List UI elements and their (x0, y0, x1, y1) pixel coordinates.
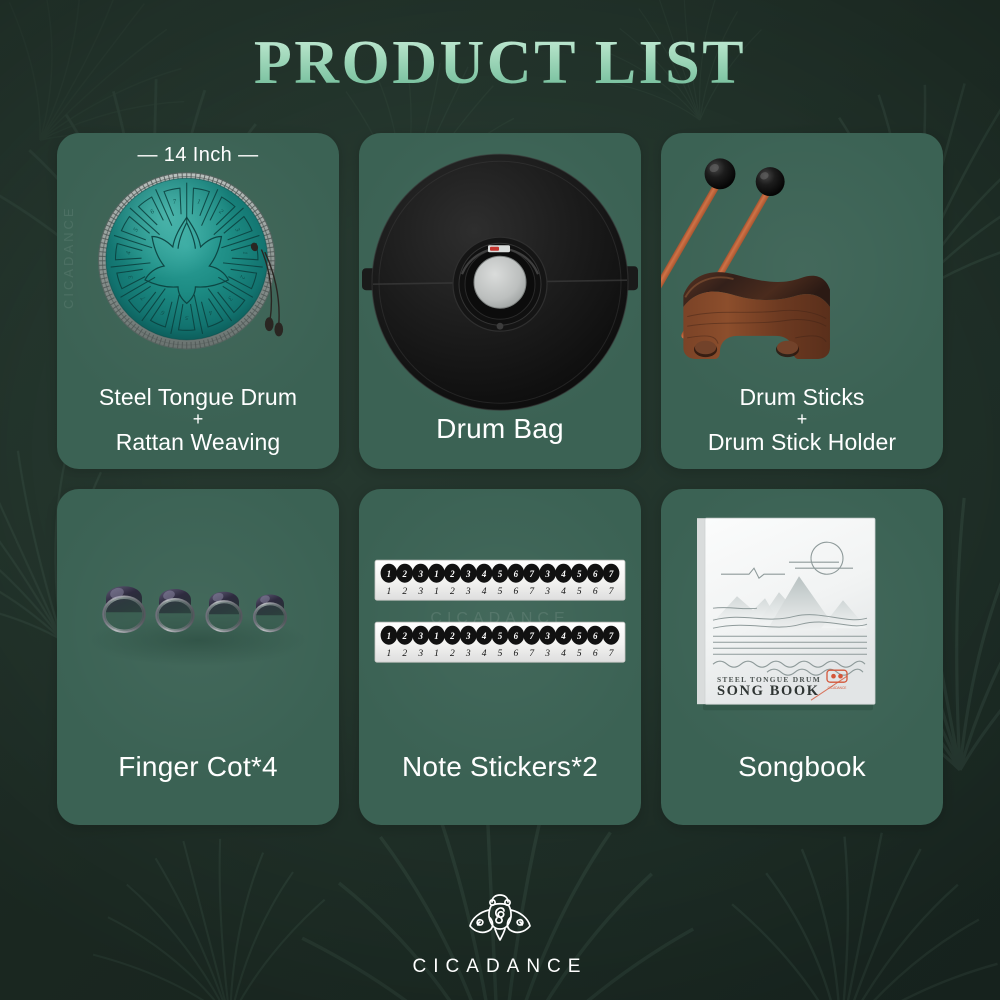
card-caption: Drum Sticks + Drum Stick Holder (661, 384, 943, 469)
svg-text:5: 5 (577, 631, 582, 641)
product-card-finger-cot[interactable]: Finger Cot*4 (57, 489, 339, 825)
svg-text:3: 3 (544, 631, 550, 641)
card-caption: Finger Cot*4 (57, 751, 339, 825)
svg-text:2: 2 (402, 631, 408, 641)
caption-line-2: Rattan Weaving (57, 429, 339, 455)
songbook-image: STEEL TONGUE DRUM SONG BOOK CICADANCE (661, 489, 943, 751)
svg-text:1: 1 (434, 649, 439, 659)
svg-text:7: 7 (529, 569, 534, 579)
page-title: PRODUCT LIST (0, 28, 1000, 99)
svg-text:7: 7 (609, 569, 614, 579)
svg-text:3: 3 (417, 631, 423, 641)
svg-text:5: 5 (498, 569, 503, 579)
svg-text:3: 3 (417, 649, 423, 659)
svg-text:3: 3 (544, 587, 550, 597)
svg-text:3: 3 (465, 649, 471, 659)
caption-text: Drum Bag (359, 413, 641, 445)
svg-text:4: 4 (482, 649, 487, 659)
product-list-poster: PRODUCT LIST — 14 Inch — CICADANCE (0, 0, 1000, 1000)
svg-text:6: 6 (514, 587, 519, 597)
svg-text:1: 1 (434, 569, 439, 579)
svg-text:2: 2 (449, 631, 455, 641)
svg-text:1: 1 (387, 587, 392, 597)
svg-text:4: 4 (560, 569, 566, 579)
svg-text:2: 2 (450, 587, 455, 597)
svg-text:3: 3 (465, 631, 471, 641)
svg-text:4: 4 (561, 649, 566, 659)
cicada-emblem-icon (464, 892, 536, 948)
svg-text:6: 6 (593, 569, 598, 579)
svg-text:1: 1 (434, 631, 439, 641)
svg-text:CICADANCE: CICADANCE (828, 686, 847, 690)
svg-text:3: 3 (465, 587, 471, 597)
drum-bag-image (359, 139, 641, 413)
svg-text:6: 6 (514, 631, 519, 641)
svg-text:3: 3 (417, 587, 423, 597)
svg-text:1: 1 (387, 569, 392, 579)
card-caption: Note Stickers*2 (359, 751, 641, 825)
songbook-cover-title: SONG BOOK (717, 683, 820, 699)
product-grid: — 14 Inch — CICADANCE (57, 133, 943, 825)
svg-text:5: 5 (498, 587, 503, 597)
note-stickers-image: 123123456734567 123123456734567 12312345… (359, 489, 641, 751)
svg-text:6: 6 (593, 631, 598, 641)
footer-brand: CICADANCE (0, 892, 1000, 978)
svg-text:3: 3 (544, 569, 550, 579)
finger-cot-image (57, 489, 339, 751)
svg-text:3: 3 (465, 569, 471, 579)
svg-text:6: 6 (593, 587, 598, 597)
svg-text:3: 3 (417, 569, 423, 579)
svg-text:5: 5 (577, 649, 582, 659)
svg-text:3: 3 (544, 649, 550, 659)
svg-text:4: 4 (482, 587, 487, 597)
svg-text:7: 7 (529, 631, 534, 641)
svg-text:7: 7 (609, 631, 614, 641)
product-card-drum-sticks[interactable]: Drum Sticks + Drum Stick Holder (661, 133, 943, 469)
caption-line-1: Steel Tongue Drum (57, 384, 339, 410)
svg-text:6: 6 (593, 649, 598, 659)
svg-text:6: 6 (514, 649, 519, 659)
product-card-note-stickers[interactable]: CICADANCE 123123456734567 (359, 489, 641, 825)
svg-text:4: 4 (481, 631, 487, 641)
svg-text:4: 4 (560, 631, 566, 641)
svg-text:2: 2 (450, 649, 455, 659)
svg-text:2: 2 (402, 569, 408, 579)
caption-line-1: Drum Sticks (661, 384, 943, 410)
card-caption: Steel Tongue Drum + Rattan Weaving (57, 384, 339, 469)
caption-text: Note Stickers*2 (359, 751, 641, 783)
svg-text:4: 4 (481, 569, 487, 579)
svg-text:4: 4 (561, 587, 566, 597)
svg-text:5: 5 (498, 649, 503, 659)
svg-text:1: 1 (434, 587, 439, 597)
svg-text:2: 2 (449, 569, 455, 579)
caption-line-2: Drum Stick Holder (661, 429, 943, 455)
caption-text: Songbook (661, 751, 943, 783)
card-caption: Songbook (661, 751, 943, 825)
product-card-drum-bag[interactable]: Drum Bag (359, 133, 641, 469)
brand-name: CICADANCE (0, 956, 1000, 978)
steel-tongue-drum-image: 123123456734567 (57, 167, 339, 384)
svg-text:6: 6 (514, 569, 519, 579)
caption-plus: + (661, 410, 943, 429)
product-card-steel-tongue-drum[interactable]: — 14 Inch — CICADANCE (57, 133, 339, 469)
drum-sticks-image (661, 143, 943, 384)
svg-text:1: 1 (387, 631, 392, 641)
card-caption: Drum Bag (359, 413, 641, 469)
svg-text:5: 5 (577, 587, 582, 597)
caption-plus: + (57, 410, 339, 429)
page-title-container: PRODUCT LIST (0, 28, 1000, 99)
svg-text:5: 5 (498, 631, 503, 641)
product-card-songbook[interactable]: STEEL TONGUE DRUM SONG BOOK CICADANCE So… (661, 489, 943, 825)
svg-text:2: 2 (402, 587, 407, 597)
svg-text:2: 2 (402, 649, 407, 659)
svg-text:1: 1 (387, 649, 392, 659)
svg-text:5: 5 (577, 569, 582, 579)
caption-text: Finger Cot*4 (57, 751, 339, 783)
drum-size-label: — 14 Inch — (137, 144, 258, 167)
